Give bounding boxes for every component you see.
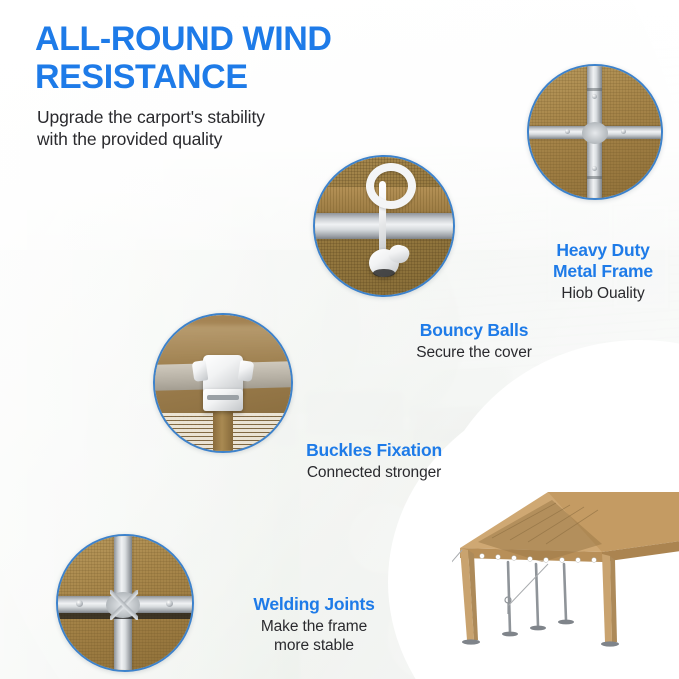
webbing-strap-vertical-lower xyxy=(213,413,233,453)
callout-photo-buckle xyxy=(153,313,293,453)
callout-label-metal-frame: Heavy Duty Metal Frame Hiob Ouality xyxy=(528,240,678,303)
title-line-2: RESISTANCE xyxy=(35,58,435,96)
pole-seam xyxy=(587,176,602,179)
callout-title-line-1: Heavy Duty xyxy=(528,240,678,261)
buckle-ladder-lock xyxy=(203,389,243,411)
callout-photo-metal-frame xyxy=(527,64,663,200)
callout-subtitle: Make the frame more stable xyxy=(226,617,402,655)
callout-subtitle: Connected stronger xyxy=(268,463,480,482)
buckle-slot xyxy=(207,395,239,400)
buckle-release-arm xyxy=(238,360,255,382)
pole-seam xyxy=(587,88,602,91)
callout-subtitle: Secure the cover xyxy=(376,343,572,362)
callout-subtitle: Hiob Ouality xyxy=(528,284,678,303)
buckle-release-arm xyxy=(192,360,209,382)
rivet xyxy=(76,600,83,607)
rivet xyxy=(565,129,570,134)
callout-subtitle-line-2: more stable xyxy=(226,636,402,655)
callout-title: Heavy Duty Metal Frame xyxy=(528,240,678,282)
rivet xyxy=(166,600,173,607)
callout-photo-welding-joint xyxy=(56,534,194,672)
subtitle-line-2: with the provided quality xyxy=(37,128,337,150)
infographic-canvas: ALL-ROUND WIND RESISTANCE Upgrade the ca… xyxy=(0,0,679,679)
cross-connector xyxy=(582,122,608,144)
callout-label-welding-joints: Welding Joints Make the frame more stabl… xyxy=(226,594,402,655)
title-line-1: ALL-ROUND WIND xyxy=(35,20,435,58)
rivet xyxy=(621,129,626,134)
subtitle-line-1: Upgrade the carport's stability xyxy=(37,106,337,128)
callout-title: Welding Joints xyxy=(226,594,402,615)
callout-label-bouncy-balls: Bouncy Balls Secure the cover xyxy=(376,320,572,362)
callout-label-buckles-fixation: Buckles Fixation Connected stronger xyxy=(268,440,480,482)
ball-slot xyxy=(373,269,395,277)
carport-product-image xyxy=(452,470,679,650)
callout-title-line-2: Metal Frame xyxy=(528,261,678,282)
page-title: ALL-ROUND WIND RESISTANCE xyxy=(35,20,435,96)
bungee-loop xyxy=(366,163,416,209)
page-subtitle: Upgrade the carport's stability with the… xyxy=(37,106,337,151)
rivet xyxy=(592,94,597,99)
callout-subtitle-line-1: Make the frame xyxy=(226,617,402,636)
callout-photo-bouncy-balls xyxy=(313,155,455,297)
weld-cross-mark xyxy=(110,590,138,620)
rivet xyxy=(592,166,597,171)
callout-title: Buckles Fixation xyxy=(268,440,480,461)
callout-title: Bouncy Balls xyxy=(376,320,572,341)
